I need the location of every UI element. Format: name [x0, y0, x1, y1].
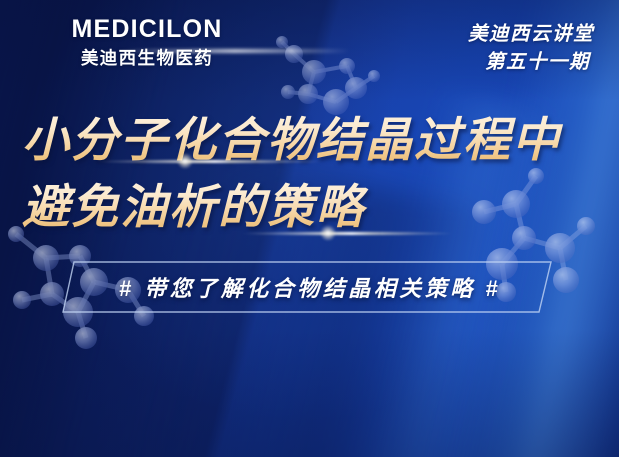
page-title: 小分子化合物结晶过程中 避免油析的策略	[22, 108, 607, 240]
webinar-poster: MEDICILON 美迪西生物医药 美迪西云讲堂 第五十一期 小分子化合物结晶过…	[0, 0, 619, 457]
title-line-2: 避免油析的策略	[22, 175, 607, 240]
subtitle-frame-glow	[120, 49, 350, 53]
light-flare-2	[240, 232, 455, 235]
subtitle-text: # 带您了解化合物结晶相关策略 #	[62, 261, 552, 313]
light-flare-dot-2	[320, 225, 336, 241]
light-flare-1	[95, 160, 325, 163]
series-line-1: 美迪西云讲堂	[468, 20, 594, 48]
series-label: 美迪西云讲堂 第五十一期	[468, 20, 594, 77]
brand-name-en: MEDICILON	[47, 16, 247, 42]
title-line-1: 小分子化合物结晶过程中	[22, 108, 607, 173]
brand-logo: MEDICILON 美迪西生物医药	[47, 16, 247, 70]
molecule-top-center-icon	[252, 14, 392, 122]
subtitle-frame: # 带您了解化合物结晶相关策略 #	[62, 261, 552, 313]
light-flare-dot-1	[177, 153, 193, 169]
series-line-2: 第五十一期	[468, 48, 590, 76]
